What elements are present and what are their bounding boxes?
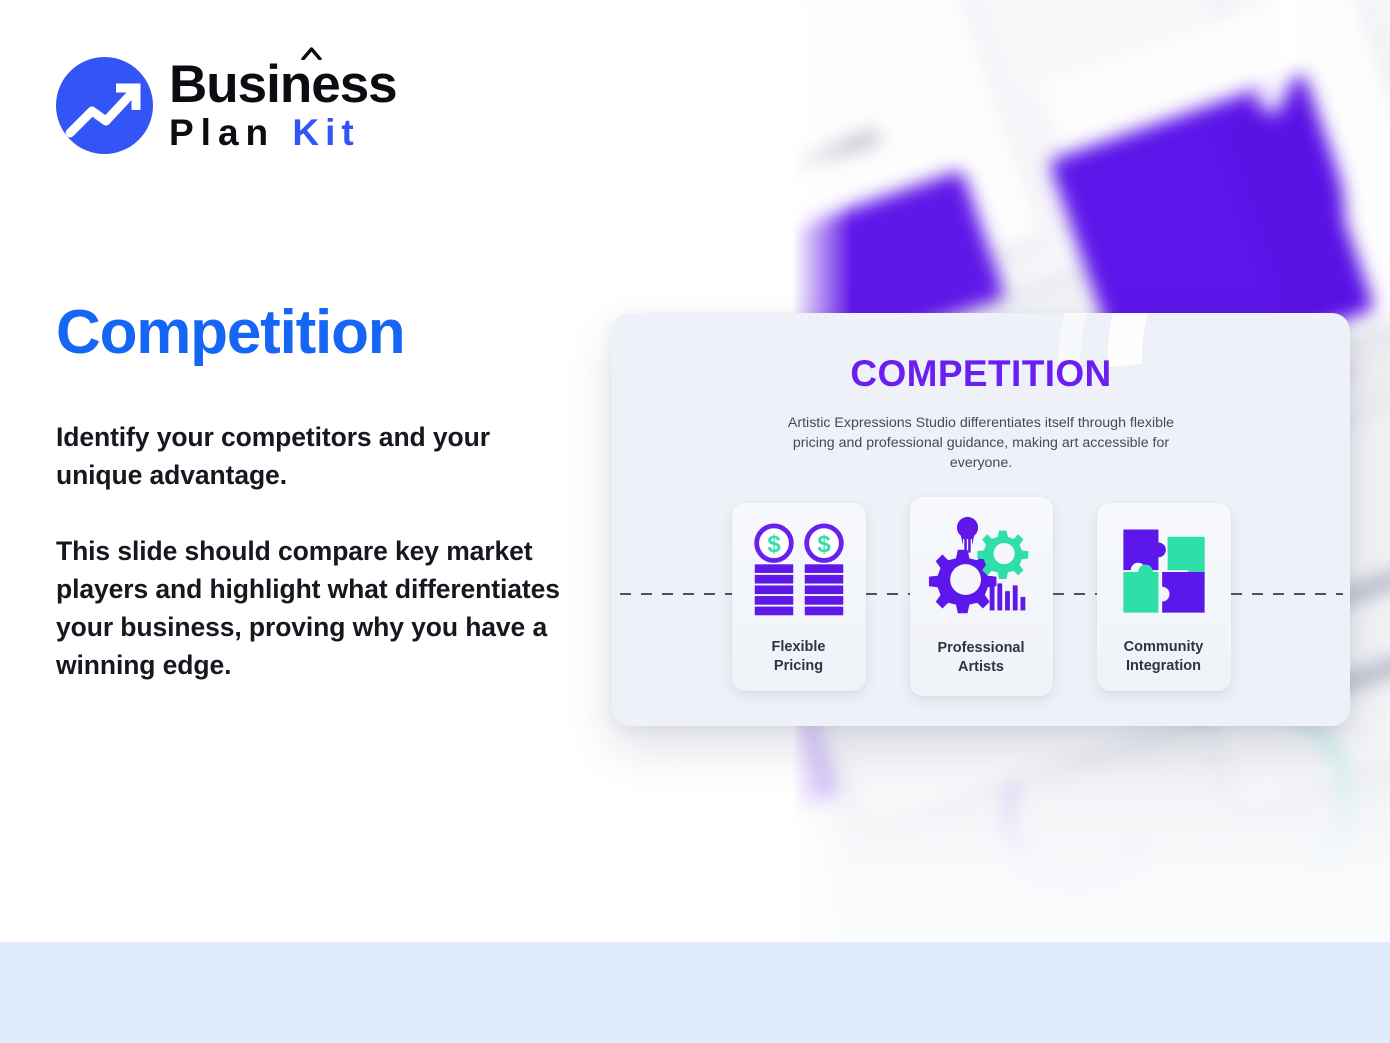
circumflex-accent-icon [301, 47, 322, 60]
brand-name-line1: Business [169, 60, 397, 111]
tile-label-line1: Flexible [772, 639, 826, 655]
feature-tile-flexible-pricing[interactable]: $ $ [732, 503, 866, 691]
page-title: Competition [56, 297, 404, 368]
brand-kit-text: Kit [292, 112, 359, 153]
svg-text:$: $ [767, 531, 781, 558]
connector-dashed-line [620, 593, 732, 595]
footer-band [0, 942, 1390, 1043]
intro-paragraph: Identify your competitors and your uniqu… [56, 418, 576, 494]
coin-stacks-icon: $ $ [749, 516, 849, 628]
feature-tiles-row: $ $ [612, 503, 1350, 696]
tile-label-line2: Integration [1126, 658, 1201, 674]
slide-page: Business Plan Kit Competition Identify y… [0, 0, 1390, 1043]
feature-tile-label: Professional Artists [937, 639, 1024, 676]
tile-label-line2: Pricing [774, 658, 823, 674]
feature-tile-community-integration[interactable]: Community Integration [1097, 503, 1231, 691]
brand-wordmark: Business Plan Kit [169, 60, 397, 150]
puzzle-pieces-icon [1116, 516, 1212, 628]
slide-preview-card[interactable]: COMPETITION Artistic Expressions Studio … [612, 313, 1350, 726]
description-paragraph: This slide should compare key market pla… [56, 532, 576, 685]
brand-logo: Business Plan Kit [56, 57, 397, 154]
tile-label-line1: Community [1124, 639, 1204, 655]
connector-dashed-line [1053, 593, 1097, 595]
tile-label-line2: Artists [958, 659, 1004, 675]
slide-subtitle: Artistic Expressions Studio differentiat… [771, 413, 1191, 473]
brand-plan-text: Plan [169, 112, 292, 153]
connector-dashed-line [866, 593, 910, 595]
slide-title: COMPETITION [612, 353, 1350, 395]
feature-tile-professional-artists[interactable]: Professional Artists [910, 497, 1053, 696]
gears-lightbulb-chart-icon [928, 507, 1034, 629]
growth-chart-arrow-icon [56, 57, 153, 154]
brand-name-text: Business [169, 55, 397, 114]
connector-dashed-line [1231, 593, 1343, 595]
brand-name-line2: Plan Kit [169, 115, 397, 151]
tile-label-line1: Professional [937, 640, 1024, 656]
feature-tile-label: Community Integration [1124, 638, 1204, 675]
svg-text:$: $ [817, 531, 831, 558]
feature-tile-label: Flexible Pricing [772, 638, 826, 675]
